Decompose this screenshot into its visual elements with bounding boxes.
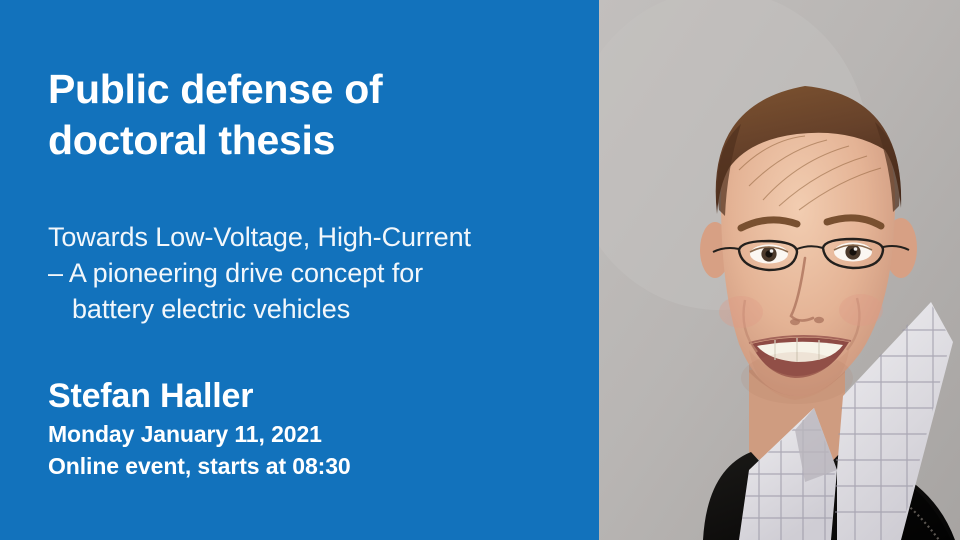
event-details: Online event, starts at 08:30 [48,452,351,480]
thesis-title: Towards Low-Voltage, High-Current – A pi… [48,219,593,327]
text-stack: Public defense of doctoral thesis Toward… [48,0,588,540]
speaker-portrait-photo [599,0,960,540]
page-title: Public defense of doctoral thesis [48,64,578,166]
cheek-right [839,294,883,326]
portrait-illustration [599,0,960,540]
event-date: Monday January 11, 2021 [48,420,322,448]
speaker-name: Stefan Haller [48,377,253,415]
thesis-title-line-1: Towards Low-Voltage, High-Current [48,219,593,255]
eye-right [834,243,872,262]
page-title-line-2: doctoral thesis [48,115,578,166]
stubble [741,352,853,404]
eye-left [750,245,788,264]
cheek-left [719,296,763,328]
thesis-title-line-3: battery electric vehicles [48,291,593,327]
page-title-line-1: Public defense of [48,64,578,115]
blue-info-panel: Public defense of doctoral thesis Toward… [0,0,599,540]
presentation-slide: Public defense of doctoral thesis Toward… [0,0,960,540]
thesis-title-line-2: – A pioneering drive concept for [48,255,593,291]
